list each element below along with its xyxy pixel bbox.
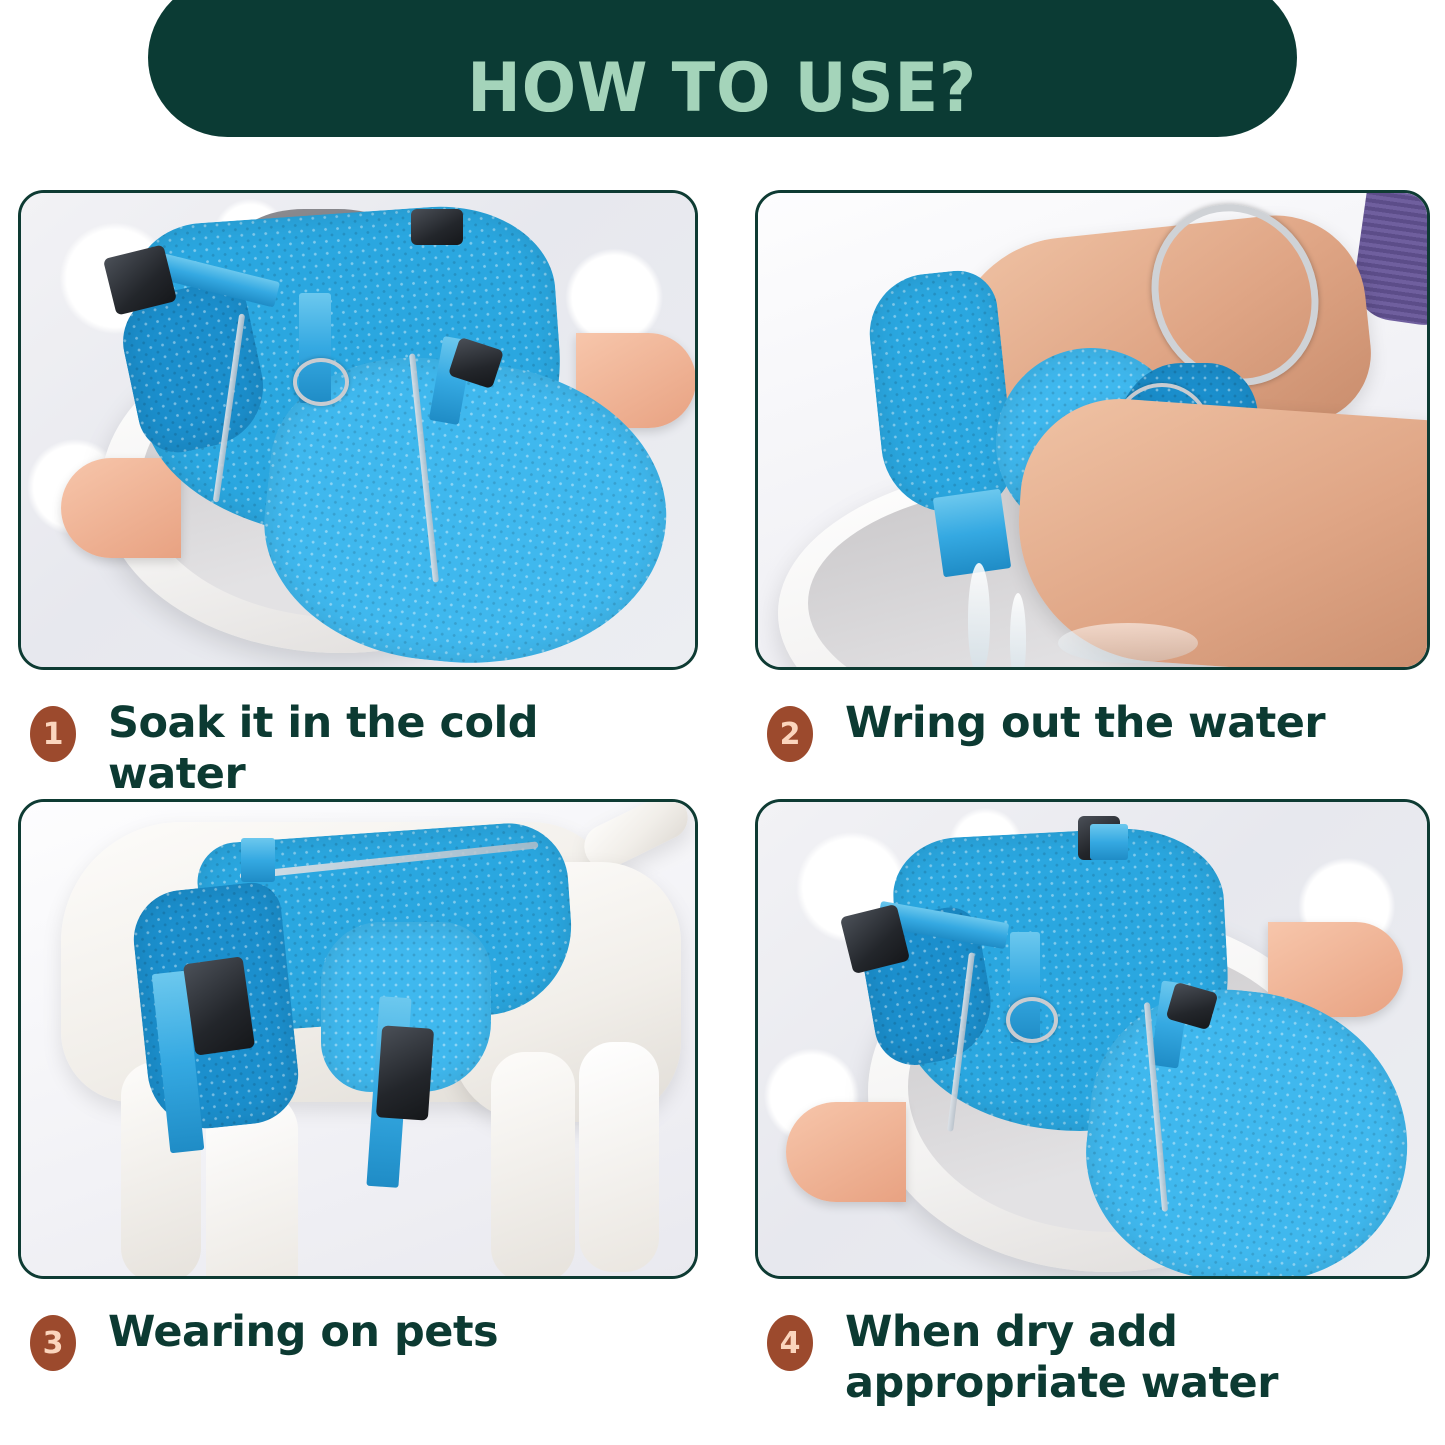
harness-buckle-top bbox=[411, 209, 463, 245]
steps-row-top: 1 Soak it in the cold water bbox=[0, 190, 1445, 799]
dog-leg-back-left bbox=[491, 1052, 575, 1279]
harness-buckle-belly bbox=[376, 1026, 434, 1121]
step-photo-1 bbox=[18, 190, 698, 670]
step-photo-3 bbox=[18, 799, 698, 1279]
step-badge-2: 2 bbox=[767, 706, 813, 762]
basin-handle-left bbox=[61, 458, 181, 558]
header-banner: HOW TO USE? bbox=[148, 0, 1297, 137]
step-caption-4: 4 When dry add appropriate water bbox=[755, 1307, 1424, 1408]
dog-leg-back-right bbox=[579, 1042, 659, 1272]
hand-lower bbox=[1009, 392, 1430, 670]
step-caption-1: 1 Soak it in the cold water bbox=[18, 698, 692, 799]
step-card-3: 3 Wearing on pets bbox=[0, 799, 722, 1408]
harness-buckle-front bbox=[183, 957, 255, 1056]
step-caption-text-1: Soak it in the cold water bbox=[108, 698, 688, 799]
water-splash bbox=[1058, 623, 1198, 663]
harness-d-ring bbox=[293, 358, 349, 406]
step-caption-text-2: Wring out the water bbox=[845, 698, 1325, 749]
step-badge-3: 3 bbox=[30, 1315, 76, 1371]
harness-dangling-strap bbox=[933, 489, 1011, 578]
steps-row-bottom: 3 Wearing on pets bbox=[0, 799, 1445, 1408]
water-stream-1 bbox=[968, 563, 990, 670]
harness-top-tab bbox=[241, 838, 275, 882]
step-caption-text-3: Wearing on pets bbox=[108, 1307, 498, 1358]
photo-scene-wearing bbox=[21, 802, 695, 1276]
step-badge-4: 4 bbox=[767, 1315, 813, 1371]
steps-grid: 1 Soak it in the cold water bbox=[0, 190, 1445, 1409]
step-photo-4 bbox=[755, 799, 1430, 1279]
step-card-1: 1 Soak it in the cold water bbox=[0, 190, 722, 799]
page-title: HOW TO USE? bbox=[468, 55, 978, 123]
step-caption-3: 3 Wearing on pets bbox=[18, 1307, 692, 1371]
step-caption-text-4: When dry add appropriate water bbox=[845, 1307, 1424, 1408]
step-badge-1: 1 bbox=[30, 706, 76, 762]
basin-handle-left bbox=[786, 1102, 906, 1202]
photo-scene-wring bbox=[758, 193, 1427, 667]
step-card-4: 4 When dry add appropriate water bbox=[722, 799, 1444, 1408]
harness-top-strap bbox=[1090, 824, 1128, 860]
step-caption-2: 2 Wring out the water bbox=[755, 698, 1424, 762]
step-photo-2 bbox=[755, 190, 1430, 670]
step-card-2: 2 Wring out the water bbox=[722, 190, 1444, 799]
photo-scene-add-water bbox=[758, 802, 1427, 1276]
photo-scene-soak bbox=[21, 193, 695, 667]
